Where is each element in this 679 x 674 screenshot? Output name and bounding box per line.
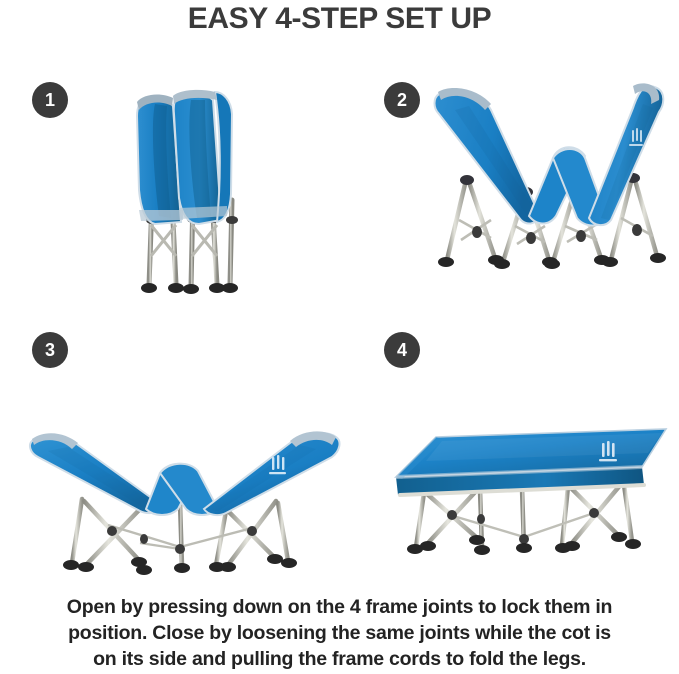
caption-line-2: position. Close by loosening the same jo… [8, 620, 671, 646]
illustration-step-1 [75, 70, 345, 310]
step-badge-3: 3 [32, 332, 68, 368]
caption-line-1: Open by pressing down on the 4 frame joi… [8, 594, 671, 620]
instruction-page: EASY 4-STEP SET UP 1 [0, 0, 679, 674]
caption-block: Open by pressing down on the 4 frame joi… [8, 594, 671, 672]
page-title: EASY 4-STEP SET UP [0, 2, 679, 36]
step-badge-2: 2 [384, 82, 420, 118]
caption-line-3: on its side and pulling the frame cords … [8, 646, 671, 672]
illustration-step-3 [20, 415, 350, 580]
step-badge-4: 4 [384, 332, 420, 368]
illustration-step-2 [425, 70, 675, 295]
step-badge-1: 1 [32, 82, 68, 118]
illustration-step-4 [380, 415, 670, 575]
